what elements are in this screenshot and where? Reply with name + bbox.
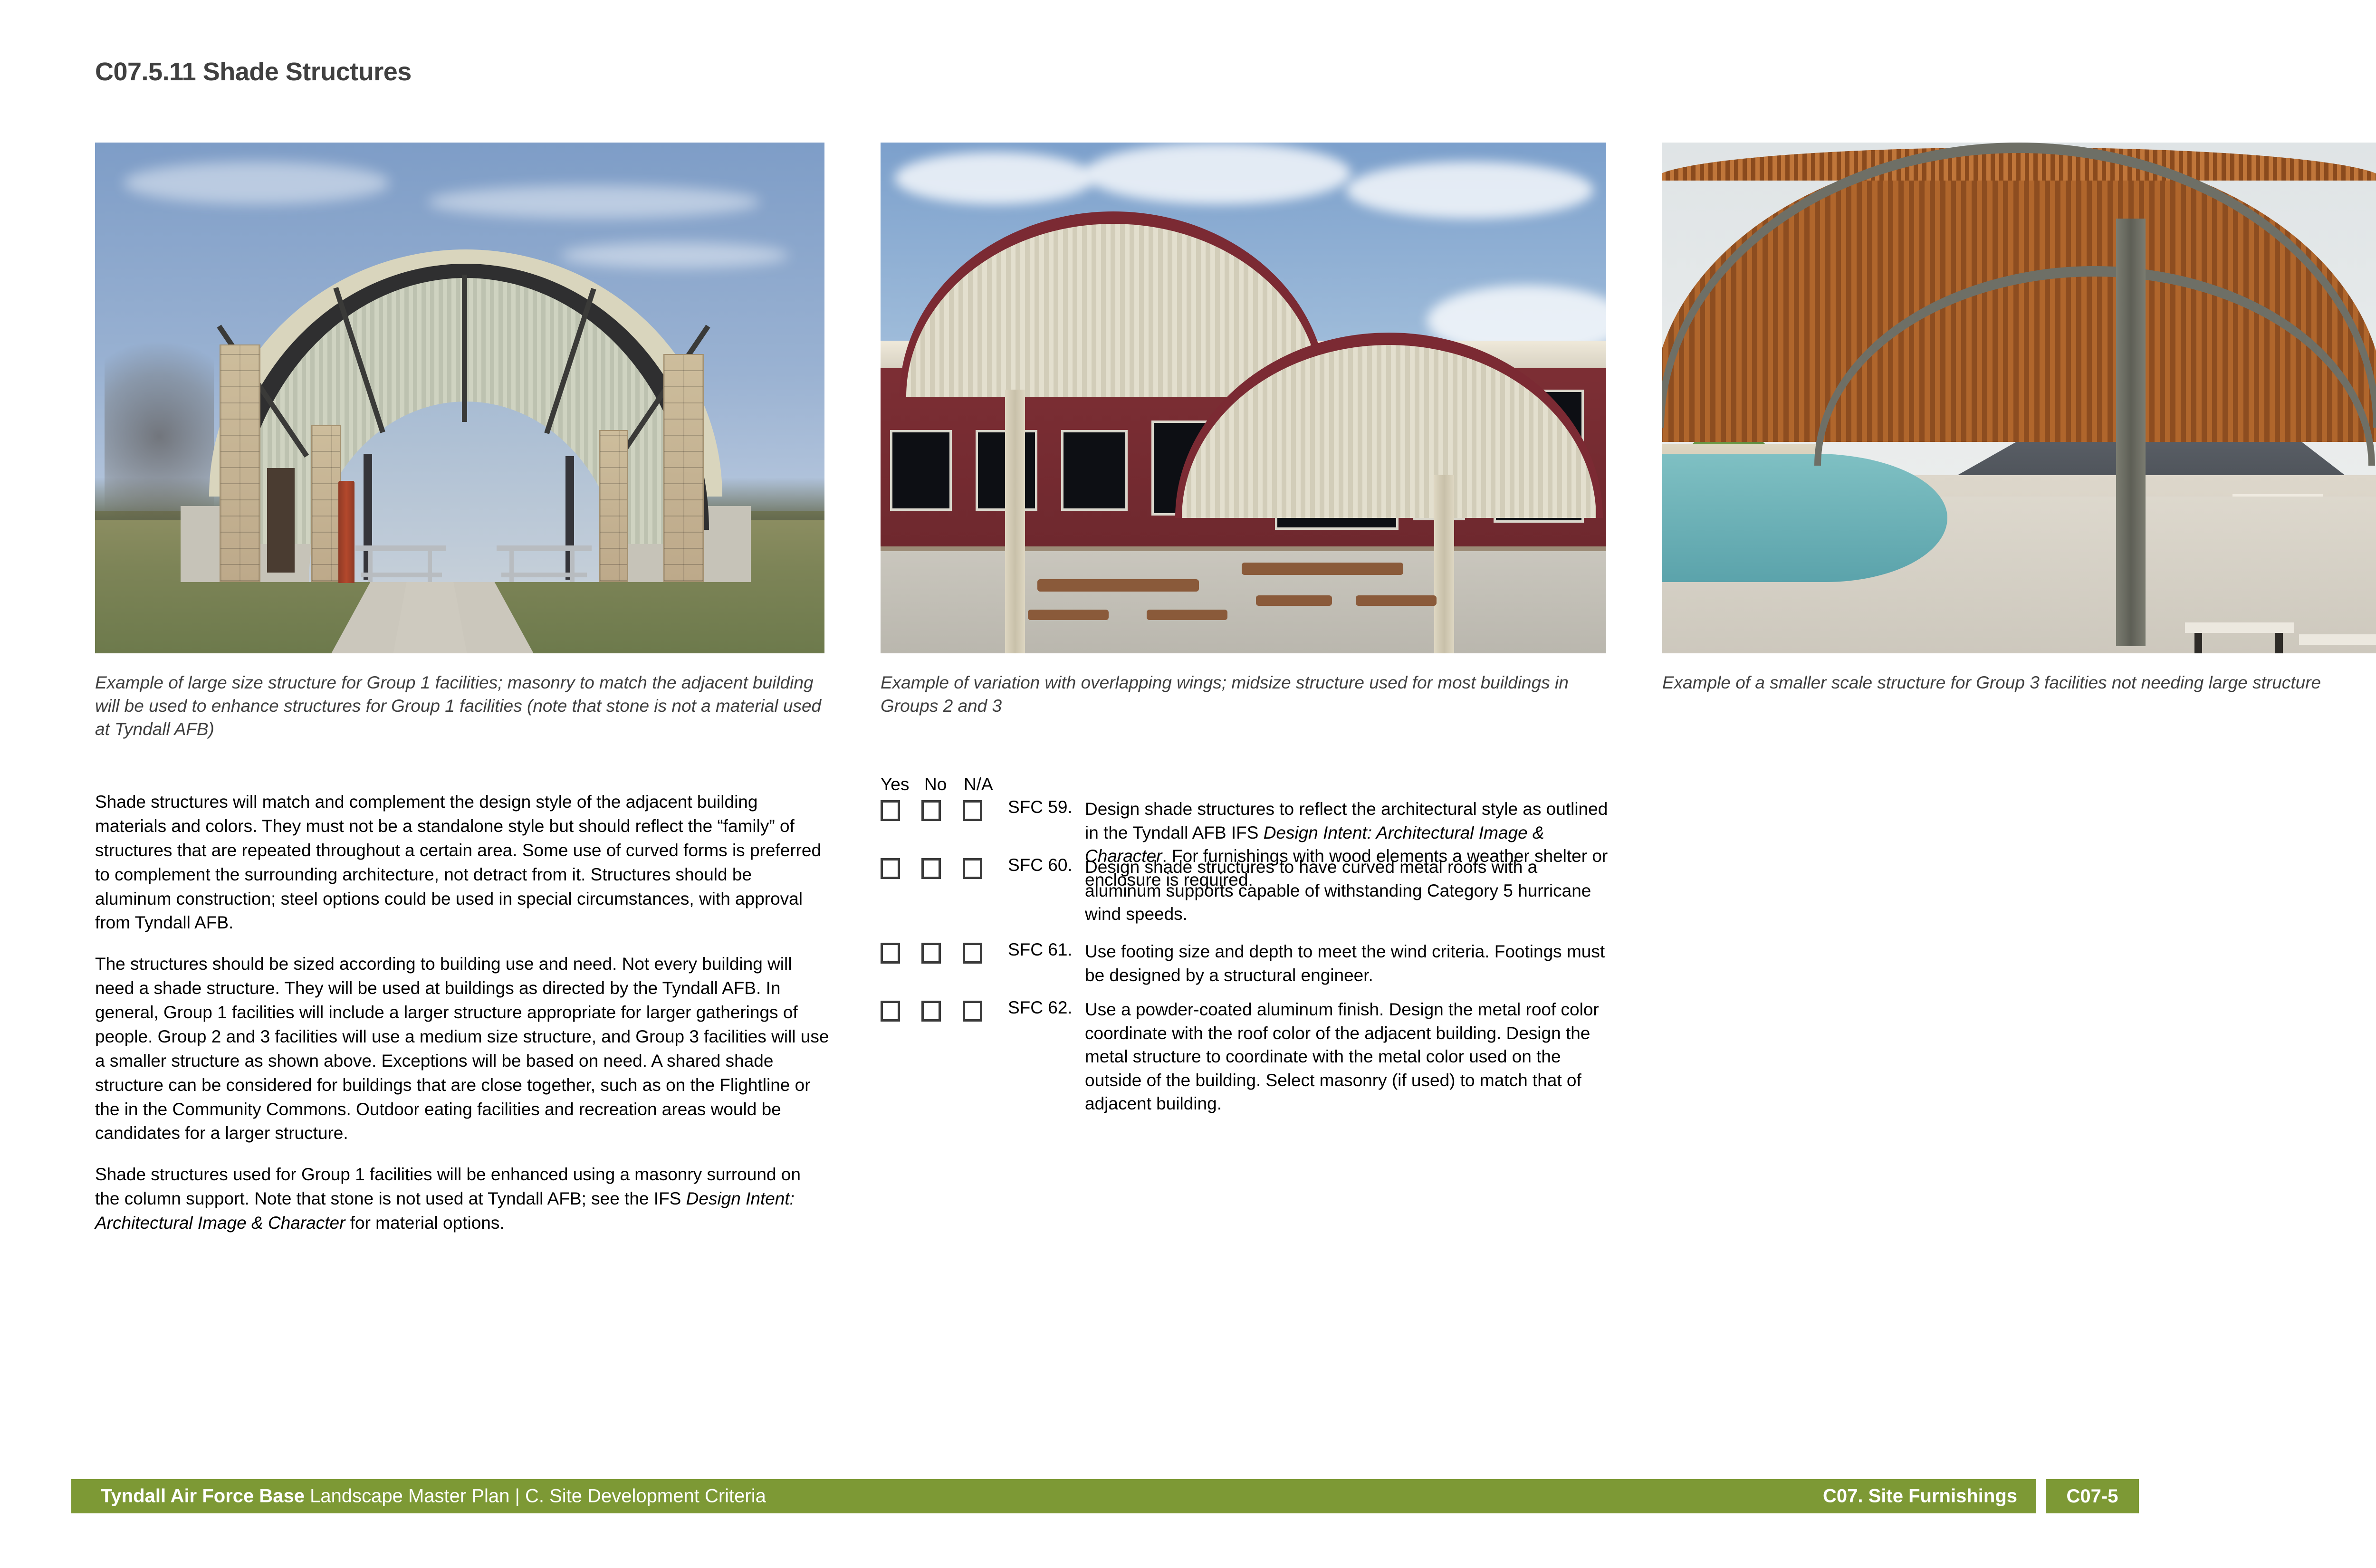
body-paragraph-3-tail: for material options. (345, 1213, 504, 1233)
checklist-item-text: Use footing size and depth to meet the w… (1085, 940, 1612, 987)
patio-table (2299, 634, 2376, 645)
checkbox-no[interactable] (921, 943, 941, 964)
checklist-item-id: SFC 61. (1008, 940, 1073, 960)
picnic-bench (1356, 595, 1437, 606)
checklist-row: SFC 61. Use footing size and depth to me… (881, 940, 1615, 973)
body-paragraph-2: The structures should be sized according… (95, 952, 829, 1146)
checkbox-no[interactable] (921, 1001, 941, 1022)
table-leg (570, 549, 575, 582)
picnic-bench (1028, 610, 1109, 620)
checklist-item-text: Design shade structures to have curved m… (1085, 855, 1612, 926)
checkbox-no[interactable] (921, 858, 941, 879)
midsize-overlapping-wings-photo (881, 143, 1606, 653)
picnic-table-top (1242, 563, 1403, 575)
checkbox-yes[interactable] (881, 800, 900, 821)
checklist-item-id: SFC 60. (1008, 855, 1073, 875)
picnic-table-top (1037, 579, 1199, 592)
stone-column (220, 344, 260, 582)
picnic-bench (1147, 610, 1227, 620)
checklist-item-id: SFC 59. (1008, 797, 1073, 817)
grill-unit (267, 468, 295, 573)
checkbox-yes[interactable] (881, 1001, 900, 1022)
body-text-column: Shade structures will match and compleme… (95, 790, 829, 1235)
cloud-shape (895, 152, 1094, 204)
checkbox-yes[interactable] (881, 943, 900, 964)
bollard (338, 481, 354, 583)
patio-table (2185, 622, 2294, 633)
building-window (890, 430, 952, 511)
checklist-item-text: Use a powder-coated aluminum finish. Des… (1085, 998, 1612, 1116)
checkbox-group (881, 858, 1004, 879)
checkbox-no[interactable] (921, 800, 941, 821)
footer-title: Tyndall Air Force Base Landscape Master … (101, 1486, 766, 1507)
cloud-shape (1085, 143, 1351, 204)
table-leg (368, 549, 373, 582)
building-window (1061, 430, 1128, 511)
footer-bar: Tyndall Air Force Base Landscape Master … (71, 1479, 2036, 1513)
small-scale-structure-photo (1662, 143, 2376, 653)
canopy-post (1434, 475, 1454, 653)
checklist-row: SFC 62. Use a powder-coated aluminum fin… (881, 998, 1615, 1031)
checklist-row: SFC 59. Design shade structures to refle… (881, 797, 1615, 831)
stone-column (599, 430, 628, 582)
swimming-pool (1662, 454, 1947, 582)
table-leg (2275, 633, 2283, 653)
footer-plan-title: Landscape Master Plan | C. Site Developm… (305, 1486, 766, 1507)
bare-tree (105, 311, 214, 520)
table-leg (2194, 633, 2202, 653)
checkbox-group (881, 943, 1004, 964)
canopy-support-mast (2116, 219, 2146, 646)
large-shade-structure-photo (95, 143, 824, 653)
header-na: N/A (964, 774, 993, 794)
checkbox-na[interactable] (963, 943, 982, 964)
footer-base-name: Tyndall Air Force Base (101, 1486, 305, 1507)
checkbox-na[interactable] (963, 858, 982, 879)
picnic-bench (1256, 595, 1332, 606)
page-title: C07.5.11 Shade Structures (95, 57, 412, 86)
header-yes: Yes (881, 774, 909, 794)
compliance-checklist: Yes No N/A SFC 59. Design shade structur… (881, 774, 1615, 1042)
checkbox-na[interactable] (963, 800, 982, 821)
table-leg (509, 549, 514, 582)
checkbox-yes[interactable] (881, 858, 900, 879)
photo-caption-2: Example of variation with overlapping wi… (881, 671, 1608, 717)
stone-column (663, 354, 704, 582)
table-leg (428, 549, 432, 582)
body-paragraph-3: Shade structures used for Group 1 facili… (95, 1163, 829, 1235)
cloud-shape (561, 242, 789, 268)
footer-page-number: C07-5 (2046, 1479, 2139, 1513)
cloud-shape (428, 185, 760, 219)
canopy-post (1005, 390, 1025, 653)
body-paragraph-1: Shade structures will match and compleme… (95, 790, 829, 935)
checklist-row: SFC 60. Design shade structures to have … (881, 855, 1615, 889)
checklist-item-id: SFC 62. (1008, 998, 1073, 1018)
footer-section-label: C07. Site Furnishings (1823, 1486, 2017, 1507)
header-no: No (924, 774, 947, 794)
checklist-column-headers: Yes No N/A (881, 774, 1615, 797)
checkbox-group (881, 1001, 1004, 1022)
stone-column (311, 425, 341, 582)
roof-rib (462, 275, 467, 422)
photo-caption-1: Example of large size structure for Grou… (95, 671, 829, 741)
cloud-shape (124, 162, 390, 204)
photo-caption-3: Example of a smaller scale structure for… (1662, 671, 2376, 694)
checkbox-group (881, 800, 1004, 821)
cloud-shape (1346, 162, 1593, 219)
document-page: C07.5.11 Shade Structures (0, 0, 2376, 1568)
checkbox-na[interactable] (963, 1001, 982, 1022)
